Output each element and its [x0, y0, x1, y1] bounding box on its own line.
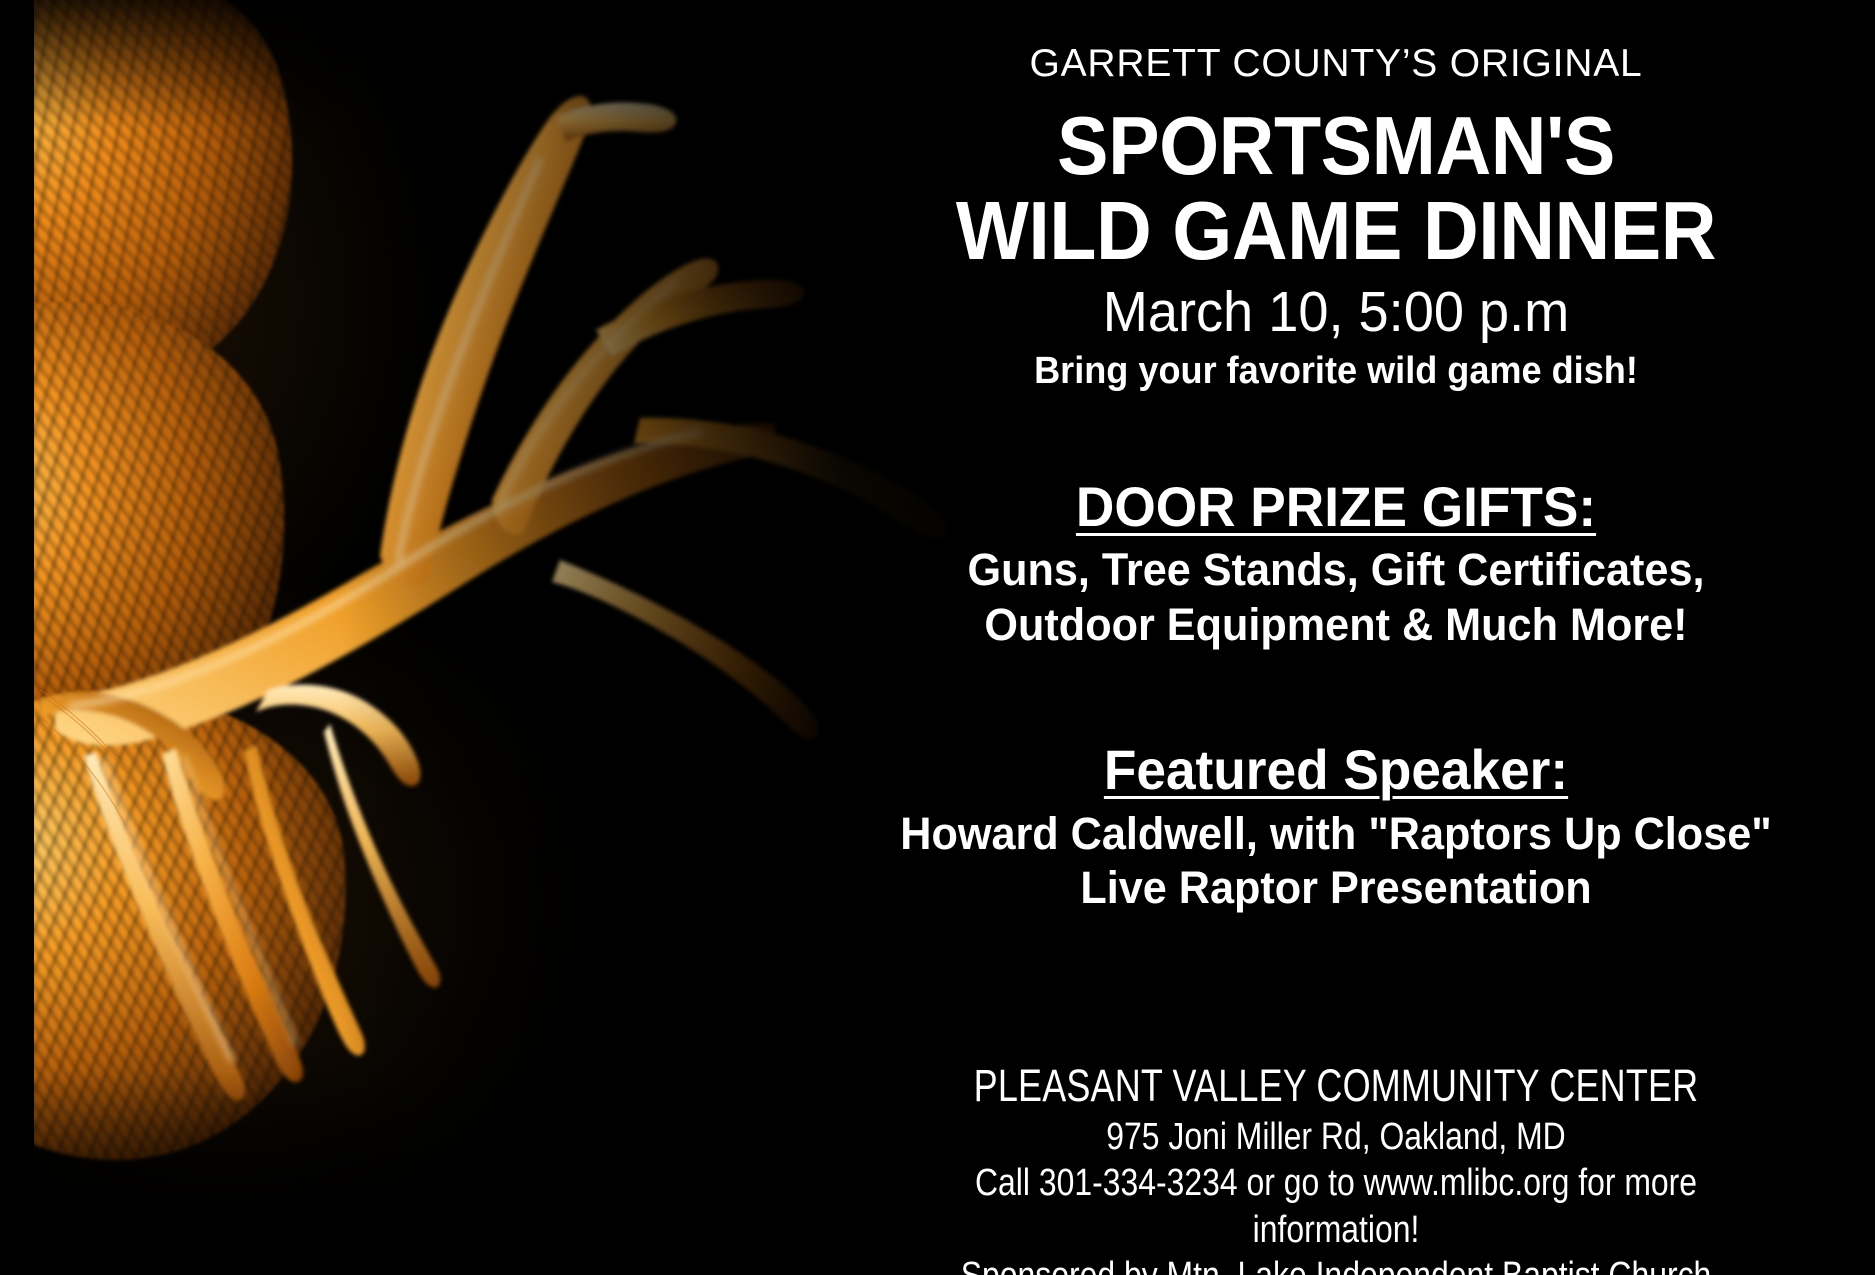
- venue-section: PLEASANT VALLEY COMMUNITY CENTER: [835, 1060, 1837, 1112]
- venue-address: 975 Joni Miller Rd, Oakland, MD: [915, 1114, 1757, 1160]
- event-tagline: Bring your favorite wild game dish!: [860, 350, 1812, 394]
- venue-name: PLEASANT VALLEY COMMUNITY CENTER: [935, 1060, 1737, 1112]
- title-line-1: SPORTSMAN'S: [870, 101, 1802, 191]
- door-prize-line-2: Outdoor Equipment & Much More!: [855, 598, 1817, 653]
- door-prize-body: Guns, Tree Stands, Gift Certificates, Ou…: [835, 543, 1837, 653]
- kicker-text: GARRETT COUNTY’S ORIGINAL: [835, 44, 1837, 85]
- featured-speaker-section: Featured Speaker: Howard Caldwell, with …: [835, 739, 1837, 916]
- sponsor-credit: Sponsored by Mtn. Lake Independent Bapti…: [915, 1253, 1757, 1275]
- poster-text-column: GARRETT COUNTY’S ORIGINAL SPORTSMAN'S WI…: [835, 0, 1875, 1275]
- door-prize-line-1: Guns, Tree Stands, Gift Certificates,: [855, 543, 1817, 598]
- featured-speaker-body: Howard Caldwell, with "Raptors Up Close"…: [835, 807, 1837, 917]
- featured-speaker-heading: Featured Speaker:: [860, 739, 1812, 801]
- title-line-2: WILD GAME DINNER: [870, 189, 1802, 274]
- contact-info: Call 301-334-3234 or go to www.mlibc.org…: [915, 1160, 1757, 1253]
- photo-left-edge-bar: [0, 0, 34, 1275]
- contact-section: 975 Joni Miller Rd, Oakland, MD Call 301…: [835, 1114, 1837, 1275]
- event-date-time: March 10, 5:00 p.m: [860, 281, 1812, 344]
- poster-canvas: GARRETT COUNTY’S ORIGINAL SPORTSMAN'S WI…: [0, 0, 1875, 1275]
- speaker-line-2: Live Raptor Presentation: [855, 861, 1817, 916]
- door-prize-section: DOOR PRIZE GIFTS: Guns, Tree Stands, Gif…: [835, 476, 1837, 653]
- speaker-line-1: Howard Caldwell, with "Raptors Up Close": [855, 807, 1817, 862]
- door-prize-heading: DOOR PRIZE GIFTS:: [860, 476, 1812, 538]
